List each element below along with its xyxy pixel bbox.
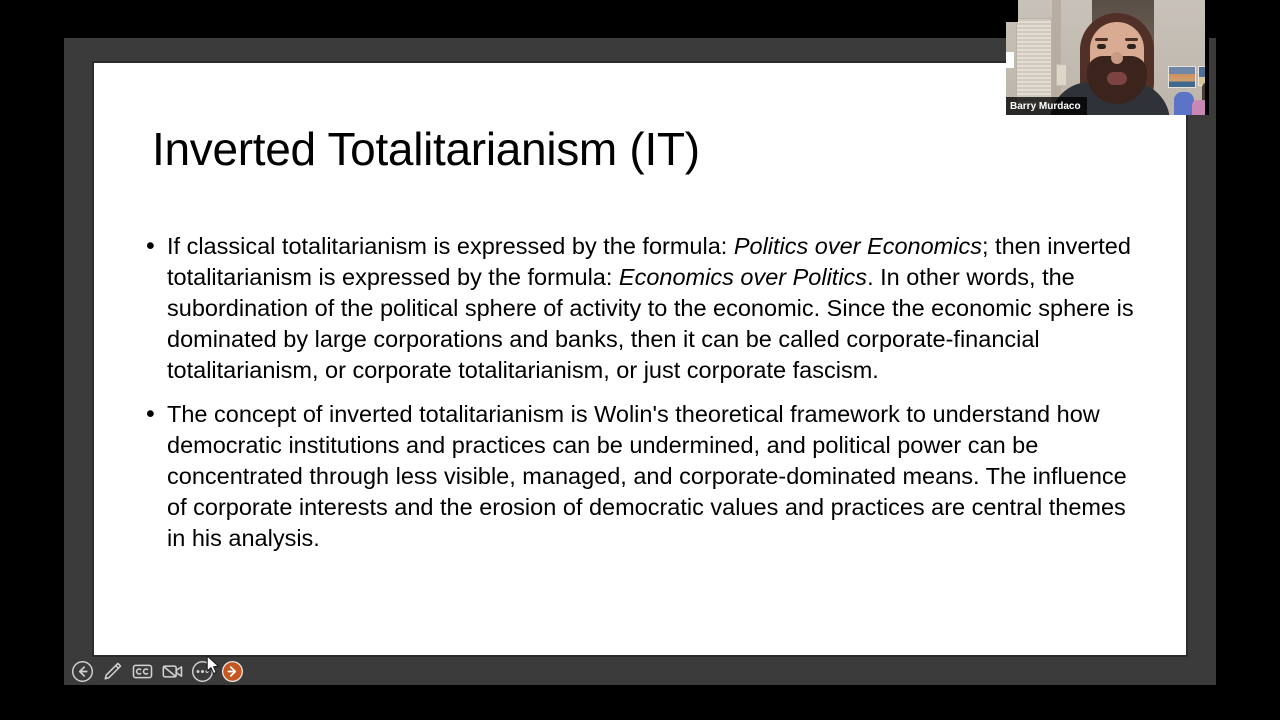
slide-body: • If classical totalitarianism is expres…: [146, 231, 1146, 567]
participant-eyebrow: [1125, 38, 1138, 41]
forward-arrow-icon[interactable]: [220, 659, 245, 684]
bullet-text: If classical totalitarianism is expresse…: [167, 231, 1146, 386]
bullet-text: The concept of inverted totalitarianism …: [167, 399, 1146, 554]
bullet-item: • If classical totalitarianism is expres…: [146, 231, 1146, 386]
background-louvered-door: [1016, 18, 1052, 108]
participant-eyebrow: [1095, 38, 1108, 41]
presentation-frame: Inverted Totalitarianism (IT) • If class…: [64, 38, 1216, 685]
background-wall-paper: [1056, 64, 1067, 86]
participant-nose: [1111, 52, 1123, 64]
bullet-marker: •: [146, 231, 167, 262]
bullet-item: • The concept of inverted totalitarianis…: [146, 399, 1146, 554]
letterbox-bar: [1006, 52, 1014, 68]
participant-eye: [1097, 44, 1106, 49]
camera-off-icon[interactable]: [160, 659, 185, 684]
letterbox-bar: [1205, 0, 1209, 115]
presentation-toolbar: [64, 657, 1216, 685]
background-wall-art: [1168, 66, 1196, 88]
letterbox-bar: [1006, 0, 1018, 22]
more-options-icon[interactable]: [190, 659, 215, 684]
closed-captions-icon[interactable]: [130, 659, 155, 684]
screen-root: Inverted Totalitarianism (IT) • If class…: [0, 0, 1280, 720]
participant-mouth: [1107, 72, 1127, 85]
participant-eye: [1127, 44, 1136, 49]
back-arrow-icon[interactable]: [70, 659, 95, 684]
slide-title: Inverted Totalitarianism (IT): [152, 125, 700, 173]
webcam-tile[interactable]: Barry Murdaco: [1006, 0, 1209, 115]
pen-icon[interactable]: [100, 659, 125, 684]
slide-canvas: Inverted Totalitarianism (IT) • If class…: [92, 61, 1188, 657]
participant-name-label: Barry Murdaco: [1006, 97, 1087, 115]
background-object: [1174, 92, 1194, 115]
bullet-marker: •: [146, 399, 167, 430]
